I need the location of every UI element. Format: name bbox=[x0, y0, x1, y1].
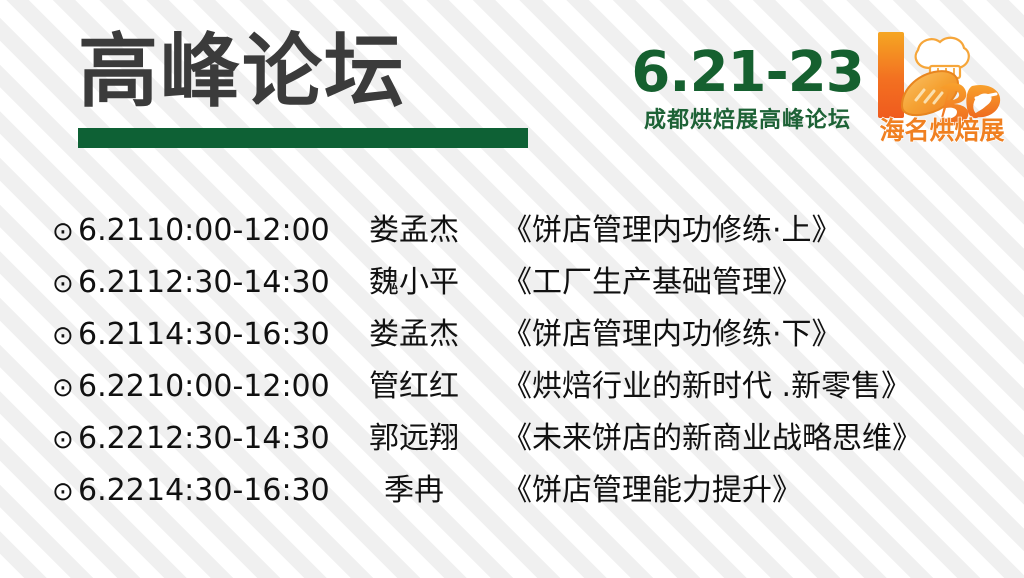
event-date-range: 6.21-23 bbox=[630, 42, 865, 104]
forum-poster: 高峰论坛 6.21-23 成都烘焙展高峰论坛 bbox=[0, 0, 1024, 578]
schedule-row: ⊙ 6.22 12:30-14:30 郭远翔 《未来饼店的新商业战略思维》 bbox=[0, 413, 1024, 465]
row-topic: 《饼店管理内功修练·上》 bbox=[484, 205, 842, 257]
bullet-circle-dot-icon: ⊙ bbox=[52, 466, 78, 518]
row-speaker: 魏小平 bbox=[344, 257, 484, 309]
schedule-list: ⊙ 6.21 10:00-12:00 娄孟杰 《饼店管理内功修练·上》 ⊙ 6.… bbox=[0, 205, 1024, 517]
schedule-row: ⊙ 6.22 10:00-12:00 管红红 《烘焙行业的新时代 .新零售》 bbox=[0, 361, 1024, 413]
title-underline-rule bbox=[78, 128, 528, 148]
baguette-icon bbox=[902, 71, 958, 115]
row-time: 12:30-14:30 bbox=[146, 257, 344, 309]
bullet-circle-dot-icon: ⊙ bbox=[52, 206, 78, 258]
row-date: 6.21 bbox=[78, 309, 146, 361]
row-time: 12:30-14:30 bbox=[146, 413, 344, 465]
row-topic: 《饼店管理能力提升》 bbox=[484, 465, 802, 517]
logo-h-bar bbox=[878, 32, 904, 118]
bullet-circle-dot-icon: ⊙ bbox=[52, 310, 78, 362]
row-time: 14:30-16:30 bbox=[146, 309, 344, 361]
row-time: 10:00-12:00 bbox=[146, 361, 344, 413]
row-date: 6.21 bbox=[78, 205, 146, 257]
row-speaker: 管红红 bbox=[344, 361, 484, 413]
poster-header: 高峰论坛 6.21-23 成都烘焙展高峰论坛 bbox=[0, 0, 1024, 180]
title-block: 高峰论坛 bbox=[78, 28, 528, 148]
row-date: 6.21 bbox=[78, 257, 146, 309]
row-date: 6.22 bbox=[78, 361, 146, 413]
row-time: 14:30-16:30 bbox=[146, 465, 344, 517]
bullet-circle-dot-icon: ⊙ bbox=[52, 258, 78, 310]
schedule-row: ⊙ 6.21 10:00-12:00 娄孟杰 《饼店管理内功修练·上》 bbox=[0, 205, 1024, 257]
row-topic: 《烘焙行业的新时代 .新零售》 bbox=[484, 361, 911, 413]
row-date: 6.22 bbox=[78, 465, 146, 517]
event-date-block: 6.21-23 成都烘焙展高峰论坛 bbox=[630, 42, 865, 134]
row-topic: 《未来饼店的新商业战略思维》 bbox=[484, 413, 922, 465]
row-speaker: 郭远翔 bbox=[344, 413, 484, 465]
hbe-logo: 海名烘焙展 bbox=[872, 28, 1012, 154]
schedule-row: ⊙ 6.21 12:30-14:30 魏小平 《工厂生产基础管理》 bbox=[0, 257, 1024, 309]
row-date: 6.22 bbox=[78, 413, 146, 465]
bullet-circle-dot-icon: ⊙ bbox=[52, 362, 78, 414]
schedule-row: ⊙ 6.22 14:30-16:30 季冉 《饼店管理能力提升》 bbox=[0, 465, 1024, 517]
page-title: 高峰论坛 bbox=[78, 28, 528, 116]
row-speaker: 季冉 bbox=[344, 465, 484, 517]
row-topic: 《饼店管理内功修练·下》 bbox=[484, 309, 842, 361]
bullet-circle-dot-icon: ⊙ bbox=[52, 414, 78, 466]
row-time: 10:00-12:00 bbox=[146, 205, 344, 257]
event-caption: 成都烘焙展高峰论坛 bbox=[630, 108, 865, 134]
row-speaker: 娄孟杰 bbox=[344, 205, 484, 257]
row-topic: 《工厂生产基础管理》 bbox=[484, 257, 802, 309]
row-speaker: 娄孟杰 bbox=[344, 309, 484, 361]
schedule-row: ⊙ 6.21 14:30-16:30 娄孟杰 《饼店管理内功修练·下》 bbox=[0, 309, 1024, 361]
logo-wordmark: 海名烘焙展 bbox=[872, 116, 1012, 146]
